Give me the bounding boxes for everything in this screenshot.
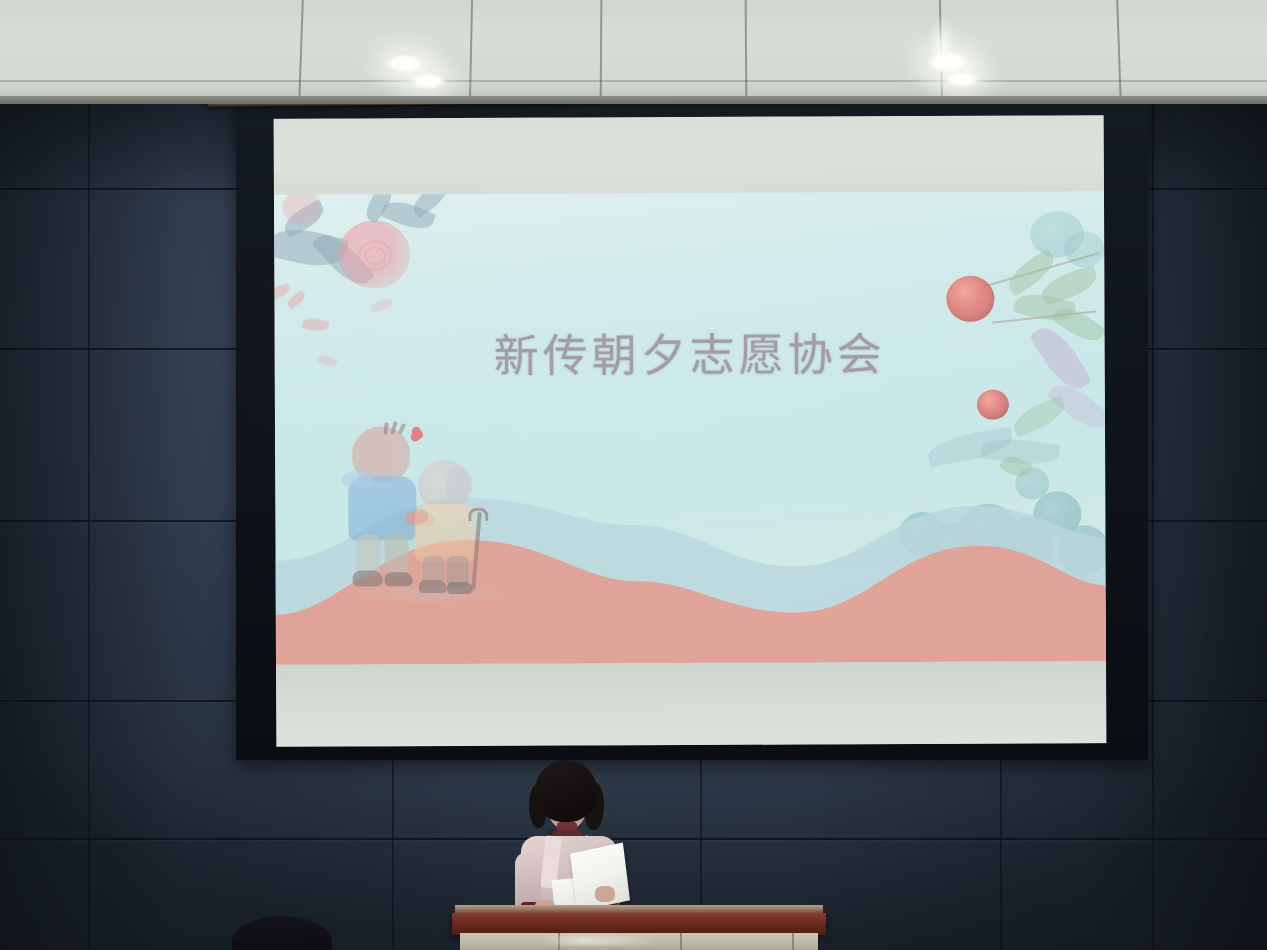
ceiling-downlight xyxy=(944,72,980,88)
elderly-care-illustration xyxy=(330,414,521,605)
presentation-photo-scene: 新传朝夕志愿协会 xyxy=(0,0,1267,950)
podium-reflection xyxy=(540,936,660,945)
presenter-hair xyxy=(535,760,597,822)
slide-title: 新传朝夕志愿协会 xyxy=(275,317,1105,386)
ceiling-downlight xyxy=(926,52,970,74)
projection-screen: 新传朝夕志愿协会 xyxy=(274,115,1107,747)
ceiling xyxy=(0,0,1267,104)
elderly-person-figure xyxy=(412,460,495,588)
presenter-hand xyxy=(595,886,615,902)
screen-unlit-bottom-band xyxy=(276,661,1106,747)
screen-unlit-top-band xyxy=(274,115,1104,195)
slide-canvas: 新传朝夕志愿协会 xyxy=(274,191,1106,665)
ceiling-downlight xyxy=(385,55,425,74)
ceiling-downlight xyxy=(410,74,446,90)
presenter xyxy=(497,760,637,910)
podium-wood-rail xyxy=(452,913,826,935)
